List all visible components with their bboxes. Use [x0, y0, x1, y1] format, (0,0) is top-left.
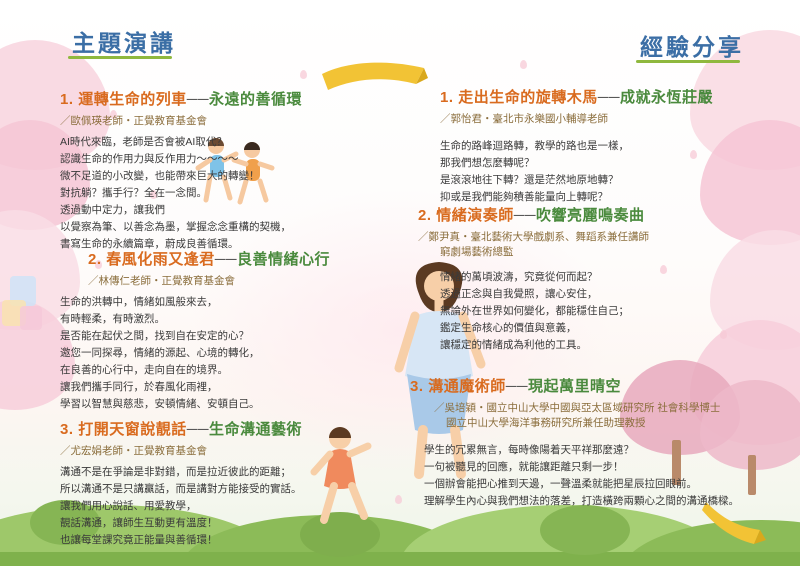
- running-girl-figure: [300, 420, 390, 530]
- experience-entry-1-dash: ──: [598, 89, 620, 106]
- keynote-entry-3-line-4: 靚話溝通，讓師生互動更有溫度！: [60, 515, 302, 532]
- experience-entry-2-affiliation-2: 窮劇場藝術總監: [440, 244, 649, 259]
- keynote-entry-2-line-2: 有時輕柔，有時激烈。: [60, 311, 330, 328]
- section-underline-keynote: [68, 56, 172, 59]
- keynote-entry-1-body: AI時代來臨，老師是否會被AI取代？ 認識生命的作用力與反作用力～～～～ 微不足…: [60, 134, 302, 253]
- keynote-entry-3-heading: 3. 打開天窗說靚話──生命溝通藝術: [60, 418, 302, 439]
- keynote-entry-2-line-5: 在良善的心行中，走向自在的境界。: [60, 362, 330, 379]
- keynote-entry-2-body: 生命的洪轉中，情緒如風般來去， 有時輕柔，有時激烈。 是否能在起伏之間，找到自在…: [60, 294, 330, 413]
- experience-entry-3-heading: 3. 溝通魔術師──現起萬里晴空: [410, 375, 739, 396]
- petal-7: [720, 330, 727, 339]
- keynote-entry-3-affiliation: ／尤宏娟老師・正覺教育基金會: [60, 443, 302, 458]
- keynote-entry-3-line-2: 所以溝通不是只講贏話，而是講對方能接受的實話。: [60, 481, 302, 498]
- experience-entry-1-number: 1.: [440, 89, 454, 106]
- experience-entry-1-title: 走出生命的旋轉木馬: [458, 89, 598, 106]
- keynote-entry-1-line-2: 認識生命的作用力與反作用力～～～～: [60, 151, 302, 168]
- keynote-entry-3-line-1: 溝通不是在爭論是非對錯，而是拉近彼此的距離；: [60, 464, 302, 481]
- keynote-entry-3-line-3: 讓我們用心說話、用愛教學，: [60, 498, 302, 515]
- keynote-entry-3: 3. 打開天窗說靚話──生命溝通藝術 ／尤宏娟老師・正覺教育基金會 溝通不是在爭…: [60, 418, 302, 549]
- ground-strip: [0, 552, 800, 566]
- keynote-entry-1-line-5: 透過動中定力，讓我們: [60, 202, 302, 219]
- experience-entry-3: 3. 溝通魔術師──現起萬里晴空 ／吳培穎・國立中山大學中國與亞太區域研究所 社…: [410, 375, 739, 510]
- experience-entry-3-number: 3.: [410, 378, 424, 395]
- keynote-entry-3-line-5: 也讓每堂課究竟正能量與善循環！: [60, 532, 302, 549]
- keynote-entry-1-affiliation: ／歐佩瑛老師・正覺教育基金會: [60, 113, 302, 128]
- experience-entry-2-line-4: 鑑定生命核心的價值與意義，: [440, 320, 649, 337]
- experience-entry-1-heading: 1. 走出生命的旋轉木馬──成就永恆莊嚴: [440, 86, 713, 107]
- experience-entry-1-line-1: 生命的路峰迴路轉，教學的路也是一樣，: [440, 138, 713, 155]
- experience-entry-3-dash: ──: [506, 378, 528, 395]
- petal-8: [300, 70, 307, 79]
- petal-6: [660, 265, 667, 274]
- section-title-experience: 經驗分享: [640, 28, 744, 62]
- experience-entry-1-subtitle: 成就永恆莊嚴: [620, 89, 713, 106]
- keynote-entry-3-dash: ──: [187, 421, 209, 438]
- experience-entry-2-dash: ──: [514, 207, 536, 224]
- yellow-ribbon-top: [320, 58, 430, 98]
- section-underline-experience: [636, 60, 740, 63]
- experience-entry-3-line-3: 一個辦會能把心推到天邊，一聲溫柔就能把星辰拉回眼前。: [424, 476, 739, 493]
- keynote-entry-1-line-6: 以覺察為筆、以善念為墨，掌握念念重構的契機，: [60, 219, 302, 236]
- experience-entry-3-line-1: 學生的冗累無言，每時像陽着天平祥那麼遠？: [424, 442, 739, 459]
- experience-entry-2-number: 2.: [418, 207, 432, 224]
- experience-entry-3-body: 學生的冗累無言，每時像陽着天平祥那麼遠？ 一句被聽見的回應，就能讓距離只剩一步！…: [424, 442, 739, 510]
- experience-entry-2-line-5: 讓穩定的情緒成為利他的工具。: [440, 337, 649, 354]
- experience-entry-2-body: 情緒的萬頃波濤，究竟從何而起？ 透過正念與自我覺照，讓心安住， 無論外在世界如何…: [440, 269, 649, 354]
- experience-entry-1-line-2: 那我們想怎麼轉呢？: [440, 155, 713, 172]
- experience-entry-1-line-3: 是滾滾地往下轉？還是茫然地原地轉？: [440, 172, 713, 189]
- experience-entry-3-line-4: 理解學生內心與我們想法的落差，打造橫跨兩顆心之間的溝通橋樑。: [424, 493, 739, 510]
- tree-trunk-2: [748, 455, 756, 495]
- keynote-entry-1-number: 1.: [60, 91, 74, 108]
- keynote-entry-2-subtitle: 良善情緒心行: [237, 251, 330, 268]
- keynote-entry-2-line-4: 邀您一同探尋，情緒的源起、心境的轉化，: [60, 345, 330, 362]
- experience-entry-2-line-2: 透過正念與自我覺照，讓心安住，: [440, 286, 649, 303]
- keynote-entry-1: 1. 運轉生命的列車──永遠的善循環 ／歐佩瑛老師・正覺教育基金會 AI時代來臨…: [60, 88, 302, 253]
- experience-entry-3-affiliation-2: 國立中山大學海洋事務研究所兼任助理教授: [446, 415, 739, 430]
- bush-3: [540, 505, 630, 555]
- keynote-entry-2-line-1: 生命的洪轉中，情緒如風般來去，: [60, 294, 330, 311]
- experience-entry-1-body: 生命的路峰迴路轉，教學的路也是一樣， 那我們想怎麼轉呢？ 是滾滾地往下轉？還是茫…: [440, 138, 713, 206]
- experience-entry-2-heading: 2. 情緒演奏師──吹響亮麗鳴奏曲: [418, 204, 649, 225]
- section-title-keynote: 主題演講: [72, 24, 176, 58]
- keynote-entry-2-title: 春風化雨又逢君: [106, 251, 215, 268]
- experience-entry-3-subtitle: 現起萬里晴空: [528, 378, 621, 395]
- keynote-entry-1-title: 運轉生命的列車: [78, 91, 187, 108]
- experience-entry-3-title: 溝通魔術師: [428, 378, 506, 395]
- keynote-entry-1-line-4: 對抗躺？攜手行？全在一念間。: [60, 185, 302, 202]
- keynote-entry-3-title: 打開天窗說靚話: [78, 421, 187, 438]
- keynote-entry-1-heading: 1. 運轉生命的列車──永遠的善循環: [60, 88, 302, 109]
- experience-entry-2-title: 情緒演奏師: [436, 207, 514, 224]
- keynote-entry-1-dash: ──: [187, 91, 209, 108]
- keynote-entry-2-line-6: 讓我們攜手同行，於春風化雨裡，: [60, 379, 330, 396]
- experience-entry-3-affiliation: ／吳培穎・國立中山大學中國與亞太區域研究所 社會科學博士: [434, 400, 739, 415]
- keynote-entry-1-line-3: 微不足道的小改變，也能帶來巨大的轉變！: [60, 168, 302, 185]
- experience-entry-2-line-1: 情緒的萬頃波濤，究竟從何而起？: [440, 269, 649, 286]
- petal-9: [520, 60, 527, 69]
- experience-entry-2-subtitle: 吹響亮麗鳴奏曲: [536, 207, 645, 224]
- keynote-entry-2-line-7: 學習以智慧與慈悲，安頓情緒、安頓自己。: [60, 396, 330, 413]
- experience-entry-2-line-3: 無論外在世界如何變化，都能穩住自己；: [440, 303, 649, 320]
- experience-entry-3-line-2: 一句被聽見的回應，就能讓距離只剩一步！: [424, 459, 739, 476]
- keynote-entry-2-heading: 2. 春風化雨又逢君──良善情緒心行: [88, 248, 330, 269]
- keynote-entry-3-subtitle: 生命溝通藝術: [209, 421, 302, 438]
- experience-entry-2: 2. 情緒演奏師──吹響亮麗鳴奏曲 ／鄭尹真・臺北藝術大學戲劇系、舞蹈系兼任講師…: [418, 204, 649, 354]
- experience-entry-2-affiliation: ／鄭尹真・臺北藝術大學戲劇系、舞蹈系兼任講師: [418, 229, 649, 244]
- petal-10: [395, 495, 402, 504]
- bunting-flag-3: [20, 306, 42, 330]
- keynote-entry-2-affiliation: ／林傳仁老師・正覺教育基金會: [88, 273, 330, 288]
- keynote-entry-3-body: 溝通不是在爭論是非對錯，而是拉近彼此的距離； 所以溝通不是只講贏話，而是講對方能…: [60, 464, 302, 549]
- keynote-entry-1-line-1: AI時代來臨，老師是否會被AI取代？: [60, 134, 302, 151]
- keynote-entry-2-line-3: 是否能在起伏之間，找到自在安定的心？: [60, 328, 330, 345]
- keynote-entry-2-number: 2.: [88, 251, 102, 268]
- keynote-entry-2-dash: ──: [215, 251, 237, 268]
- keynote-entry-2: 2. 春風化雨又逢君──良善情緒心行 ／林傳仁老師・正覺教育基金會 生命的洪轉中…: [88, 248, 330, 413]
- keynote-entry-3-number: 3.: [60, 421, 74, 438]
- experience-entry-1-affiliation: ／郭怡君・臺北市永樂國小輔導老師: [440, 111, 713, 126]
- experience-entry-1: 1. 走出生命的旋轉木馬──成就永恆莊嚴 ／郭怡君・臺北市永樂國小輔導老師 生命…: [440, 86, 713, 206]
- keynote-entry-1-subtitle: 永遠的善循環: [209, 91, 302, 108]
